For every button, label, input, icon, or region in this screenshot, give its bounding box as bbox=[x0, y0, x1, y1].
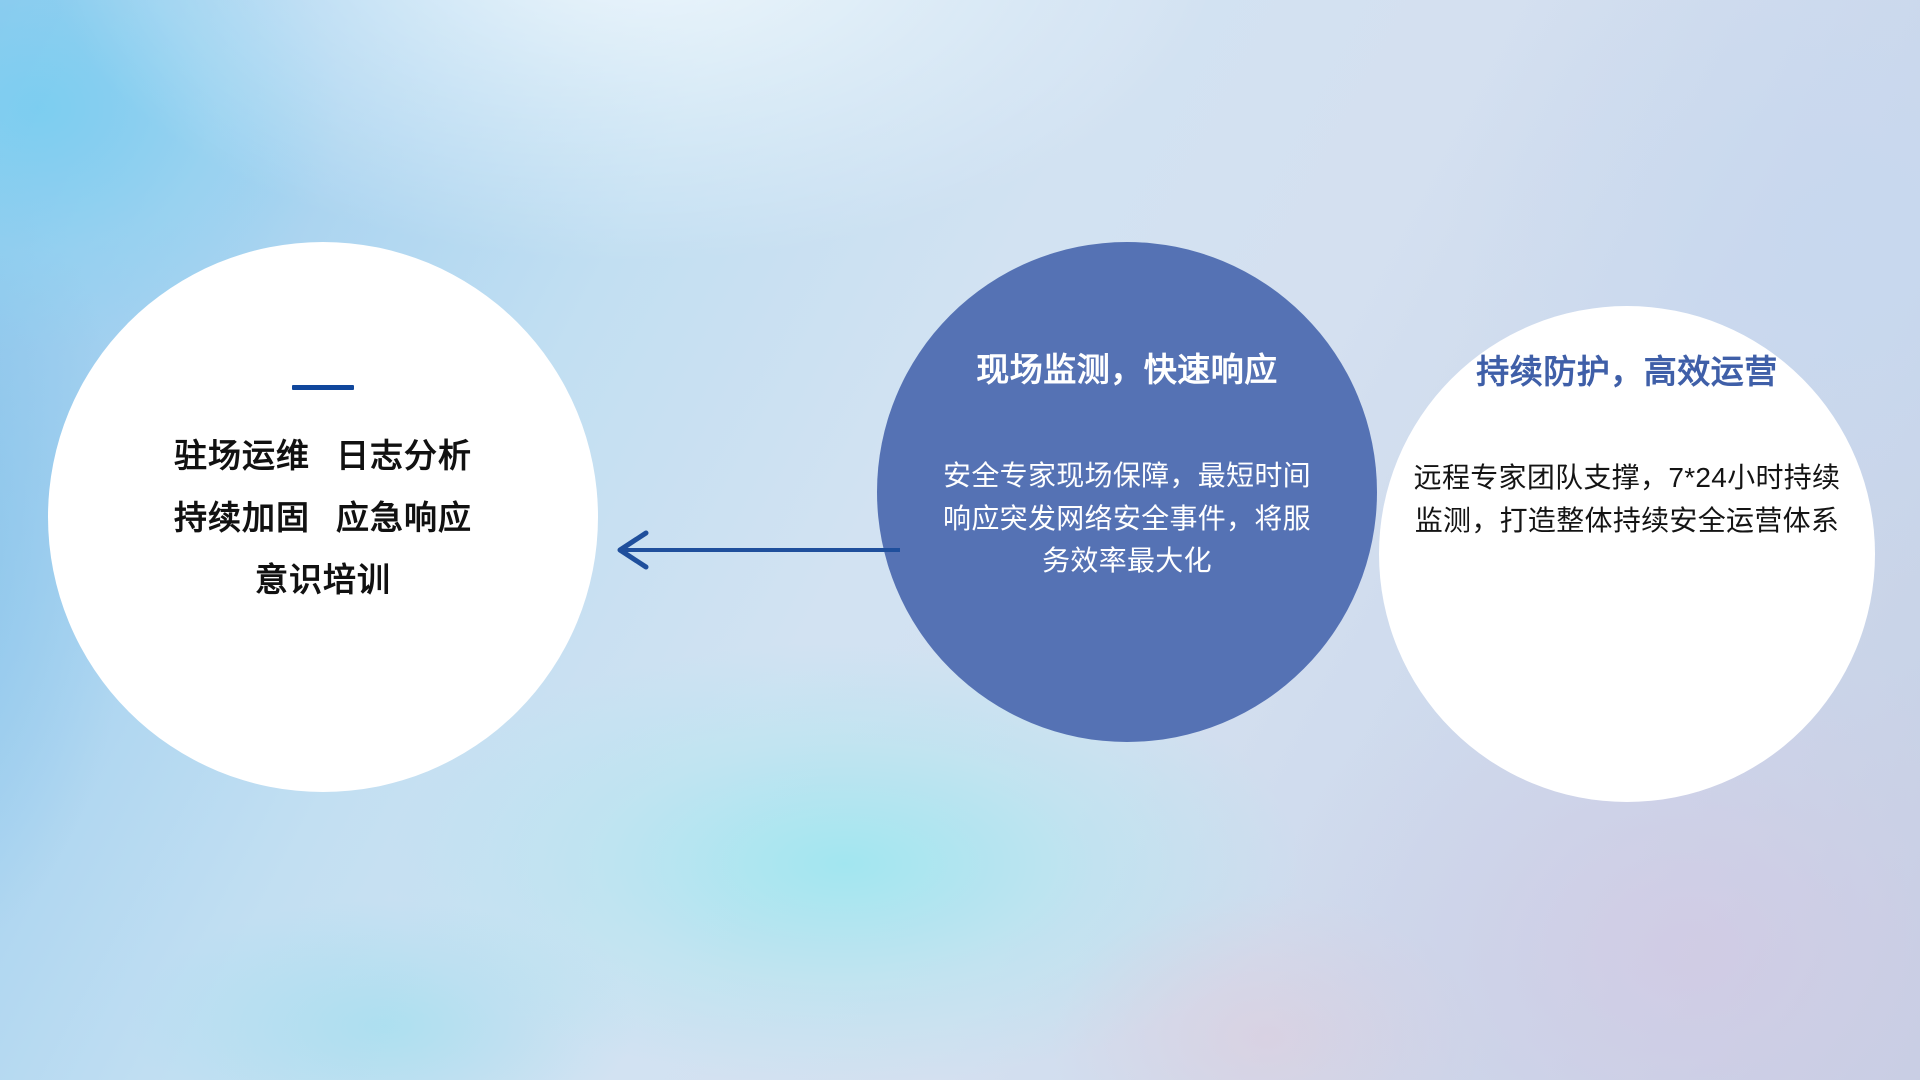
keyword-item: 驻场运维 bbox=[174, 437, 310, 474]
arrow-left-icon bbox=[600, 520, 900, 580]
keyword-item: 意识培训 bbox=[255, 561, 391, 598]
mid-blue-circle[interactable] bbox=[877, 242, 1377, 742]
keyword-row-1: 驻场运维日志分析 bbox=[174, 439, 472, 472]
keyword-row-3: 意识培训 bbox=[255, 563, 391, 596]
keyword-item: 应急响应 bbox=[336, 499, 472, 536]
accent-dash-divider bbox=[292, 385, 354, 390]
keyword-item: 持续加固 bbox=[174, 499, 310, 536]
keyword-row-2: 持续加固应急响应 bbox=[174, 501, 472, 534]
keyword-list: 驻场运维日志分析 持续加固应急响应 意识培训 bbox=[174, 439, 472, 596]
infographic-canvas: 驻场运维日志分析 持续加固应急响应 意识培训 现场监测，快速响应 安全专家现场保… bbox=[0, 0, 1920, 1080]
keyword-item: 日志分析 bbox=[336, 437, 472, 474]
left-keywords-circle[interactable]: 驻场运维日志分析 持续加固应急响应 意识培训 bbox=[48, 242, 598, 792]
right-white-circle[interactable] bbox=[1379, 306, 1875, 802]
